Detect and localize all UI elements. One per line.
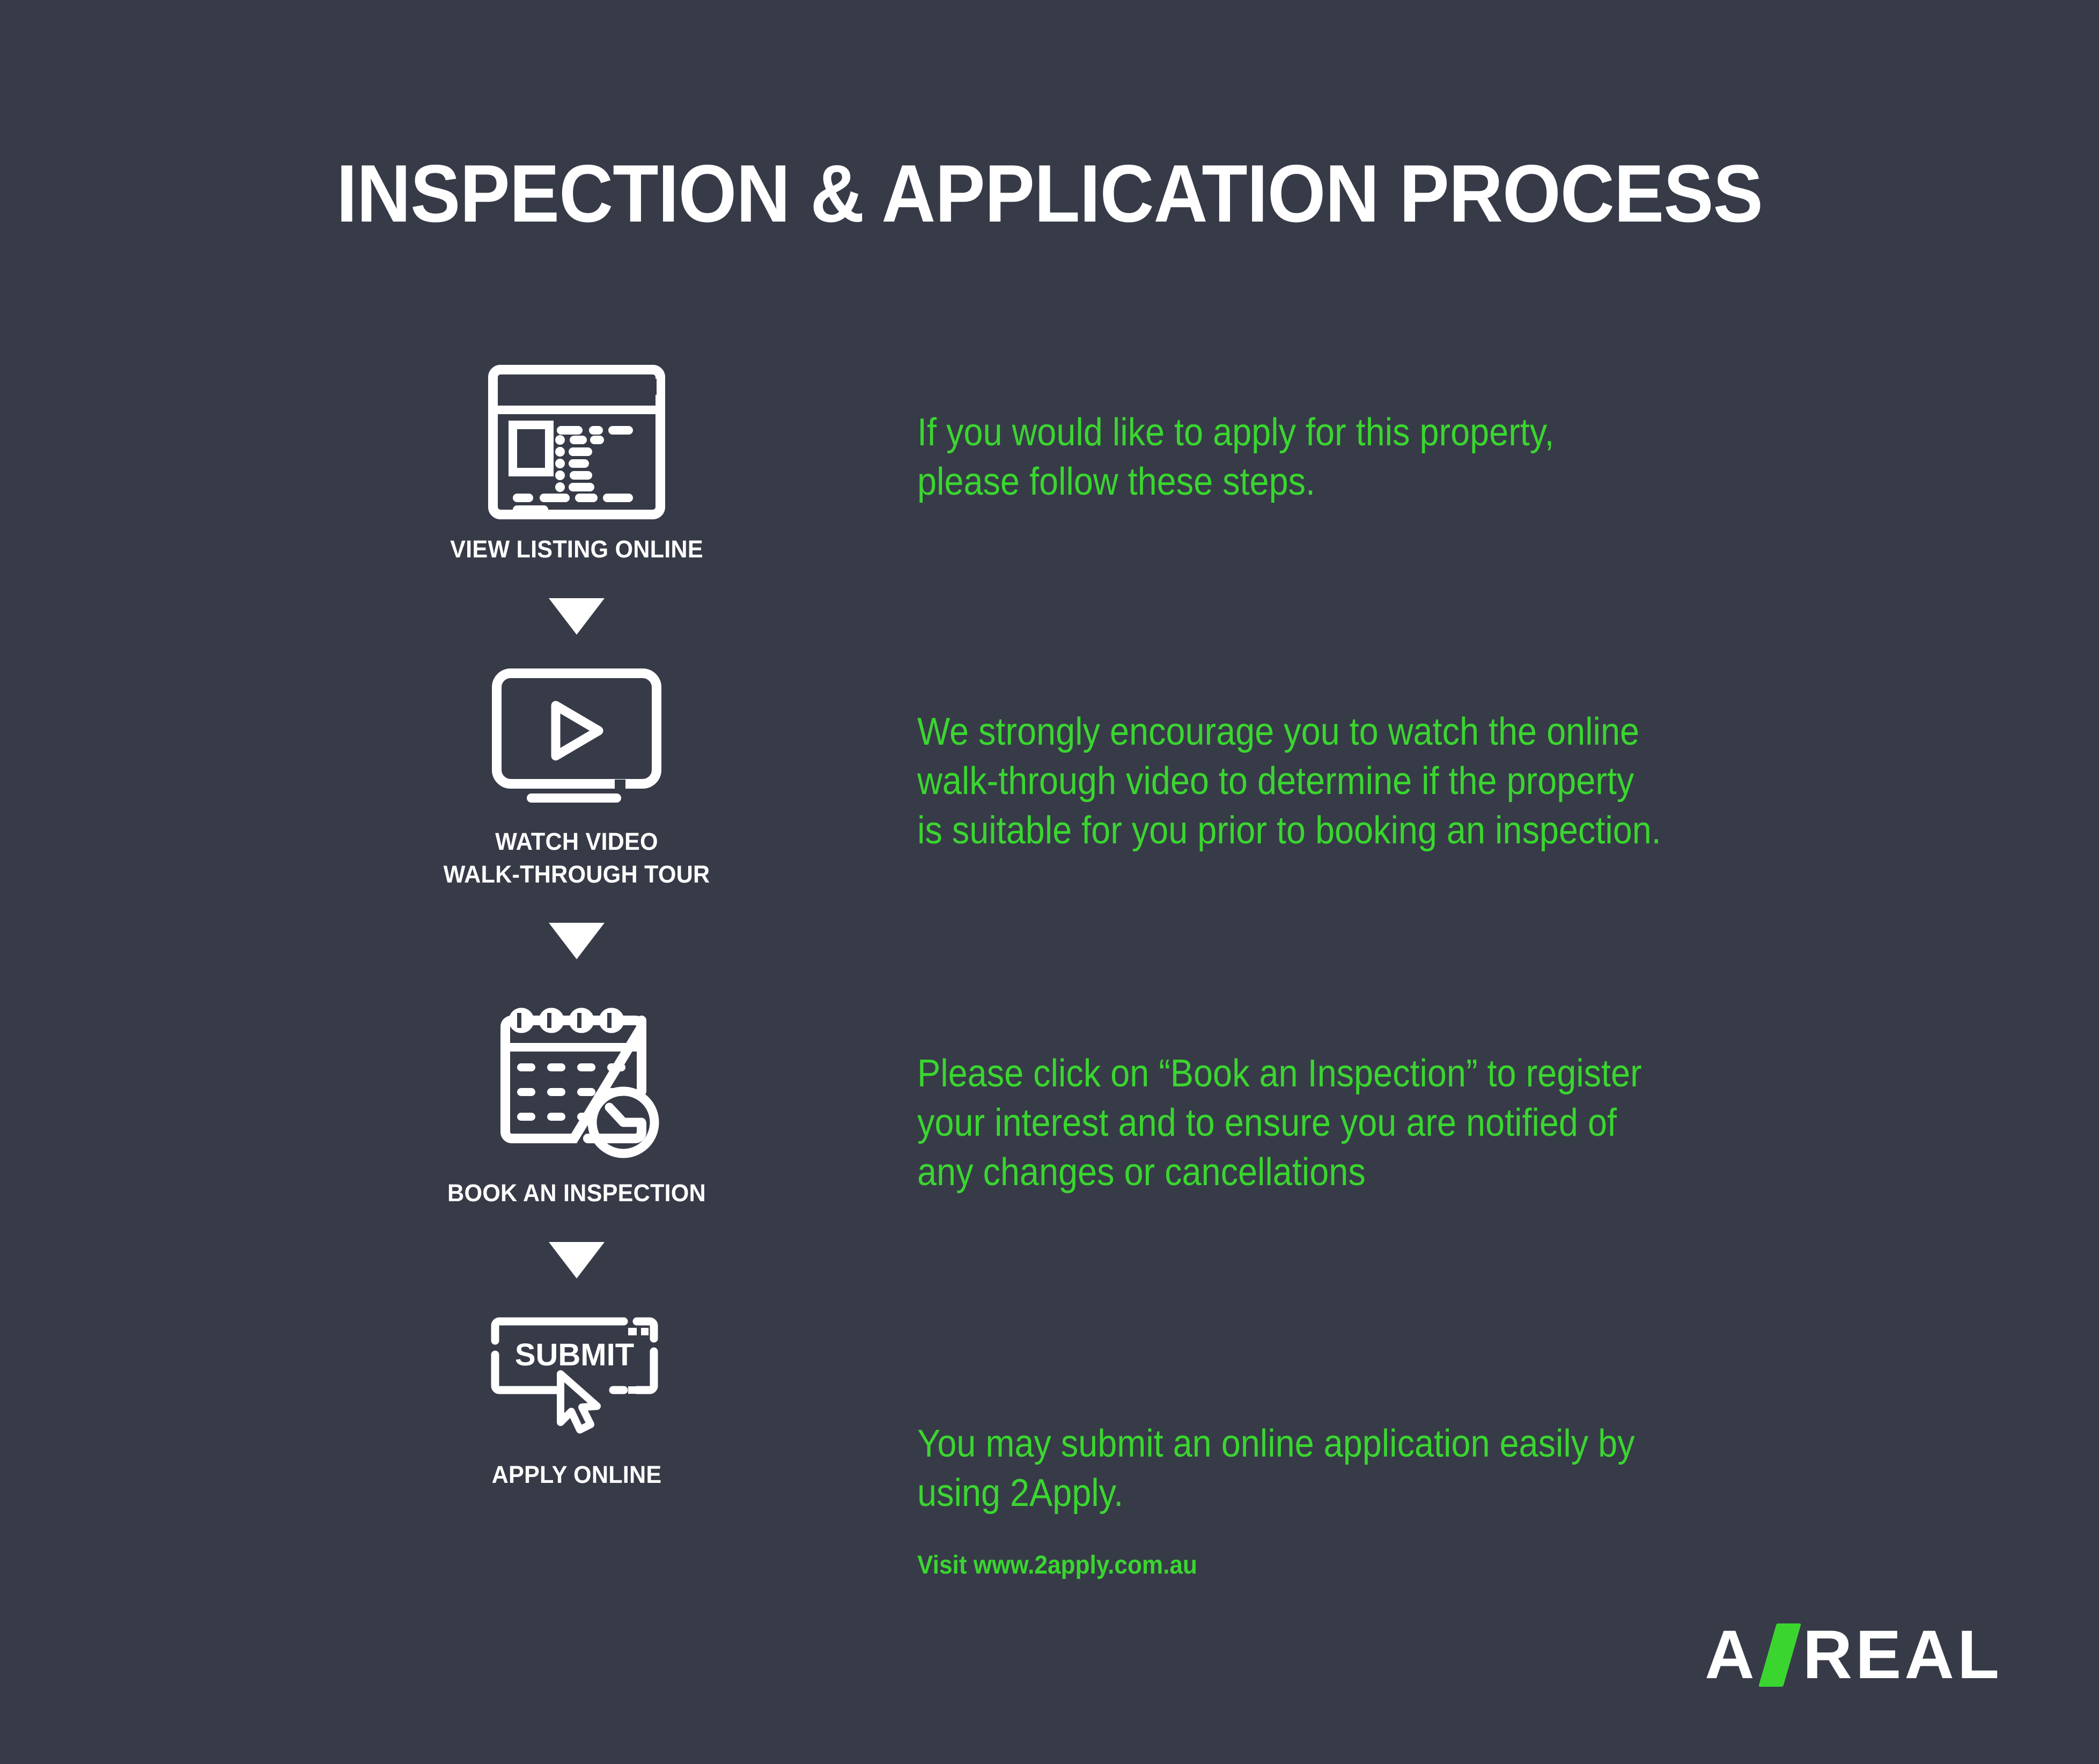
logo-letter-a: A xyxy=(1705,1615,1757,1694)
step-2-label-line2: WALK-THROUGH TOUR xyxy=(415,858,739,891)
step-apply-online[interactable]: SUBMIT APPLY ONLINE xyxy=(408,1311,746,1491)
copy-3-line-1: Please click on “Book an Inspection” to … xyxy=(917,1049,1825,1098)
submit-icon-text: SUBMIT xyxy=(515,1337,634,1372)
copy-2-line-2: walk-through video to determine if the p… xyxy=(917,756,1825,806)
submit-button-cursor-icon: SUBMIT xyxy=(480,1311,673,1445)
step-3-icon-wrap xyxy=(408,991,746,1163)
brand-logo: A REAL xyxy=(1705,1615,2002,1694)
copy-block-2: We strongly encourage you to watch the o… xyxy=(917,707,1825,855)
flow-arrow-3 xyxy=(408,1242,746,1278)
page-title: INSPECTION & APPLICATION PROCESS xyxy=(84,153,2015,234)
spacer xyxy=(408,1210,746,1242)
down-triangle-icon xyxy=(549,1242,605,1278)
down-triangle-icon xyxy=(549,598,605,635)
logo-word-real: REAL xyxy=(1803,1615,2002,1694)
step-2-label-line1: WATCH VIDEO xyxy=(415,826,739,858)
spacer xyxy=(408,1278,746,1311)
copy-block-1: If you would like to apply for this prop… xyxy=(917,408,1825,506)
calendar-clock-icon xyxy=(488,991,665,1163)
poster-canvas: INSPECTION & APPLICATION PROCESS xyxy=(0,0,2099,1764)
process-steps-column: VIEW LISTING ONLINE WATCH VIDEO WALK xyxy=(408,365,746,1491)
spacer xyxy=(408,891,746,923)
step-watch-video[interactable]: WATCH VIDEO WALK-THROUGH TOUR xyxy=(408,667,746,891)
step-4-label: APPLY ONLINE xyxy=(415,1459,739,1491)
copy-2-line-3: is suitable for you prior to booking an … xyxy=(917,806,1825,855)
copy-1-line-1: If you would like to apply for this prop… xyxy=(917,408,1825,457)
browser-listing-icon xyxy=(488,365,665,519)
step-2-label: WATCH VIDEO WALK-THROUGH TOUR xyxy=(415,826,739,891)
visit-link[interactable]: Visit www.2apply.com.au xyxy=(917,1550,1197,1580)
copy-3-line-3: any changes or cancellations xyxy=(917,1148,1825,1197)
copy-block-4: You may submit an online application eas… xyxy=(917,1419,1825,1518)
copy-4-line-2: using 2Apply. xyxy=(917,1468,1825,1518)
step-3-label: BOOK AN INSPECTION xyxy=(415,1177,739,1210)
step-book-inspection[interactable]: BOOK AN INSPECTION xyxy=(408,991,746,1210)
copy-4-line-1: You may submit an online application eas… xyxy=(917,1419,1825,1468)
spacer xyxy=(408,566,746,598)
video-play-monitor-icon xyxy=(488,667,665,812)
step-4-icon-wrap: SUBMIT xyxy=(408,1311,746,1445)
flow-arrow-1 xyxy=(408,598,746,635)
step-1-label: VIEW LISTING ONLINE xyxy=(415,533,739,566)
logo-slash-icon xyxy=(1758,1623,1801,1687)
copy-1-line-2: please follow these steps. xyxy=(917,457,1825,506)
flow-arrow-2 xyxy=(408,923,746,959)
step-2-icon-wrap xyxy=(408,667,746,812)
step-1-icon-wrap xyxy=(408,365,746,519)
copy-2-line-1: We strongly encourage you to watch the o… xyxy=(917,707,1825,756)
spacer xyxy=(408,959,746,991)
copy-block-3: Please click on “Book an Inspection” to … xyxy=(917,1049,1825,1197)
copy-3-line-2: your interest and to ensure you are noti… xyxy=(917,1098,1825,1148)
step-view-listing[interactable]: VIEW LISTING ONLINE xyxy=(408,365,746,566)
down-triangle-icon xyxy=(549,923,605,959)
spacer xyxy=(408,635,746,667)
